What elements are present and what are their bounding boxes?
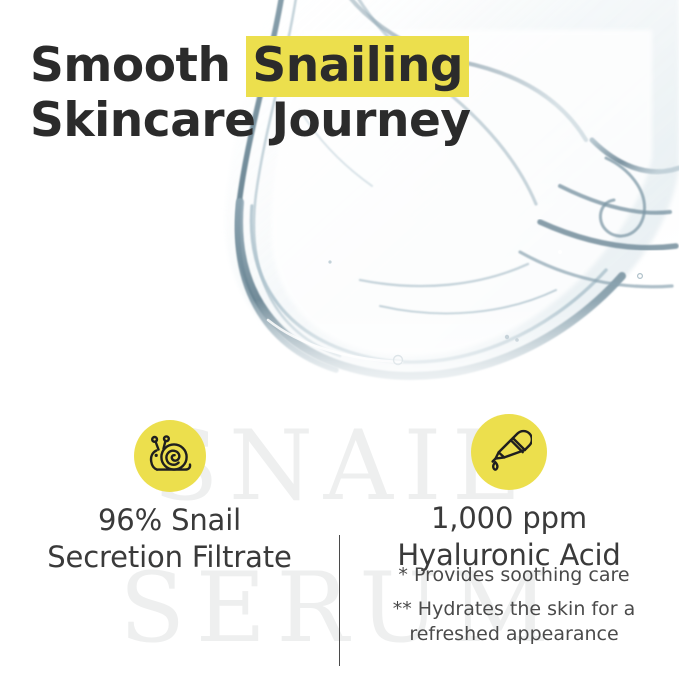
feature-hyaluronic-label-line1: 1,000 ppm: [339, 500, 679, 537]
feature-snail-label-line2: Secretion Filtrate: [0, 539, 339, 576]
footnote-2-line2: refreshed appearance: [355, 622, 673, 647]
snail-badge: [134, 420, 206, 492]
headline-line-2: Skincare Journey: [30, 93, 650, 148]
dropper-badge: [471, 414, 547, 490]
footnote-1-line1: * Provides soothing care: [355, 563, 673, 588]
feature-hyaluronic: 1,000 ppm Hyaluronic Acid: [339, 414, 679, 574]
feature-snail: 96% Snail Secretion Filtrate: [0, 414, 339, 576]
footnote-list: * Provides soothing care ** Hydrates the…: [355, 563, 673, 647]
footnote-2-line1: ** Hydrates the skin for a: [355, 597, 673, 622]
footnote-2: ** Hydrates the skin for a refreshed app…: [355, 597, 673, 647]
headline-prefix: Smooth: [30, 38, 246, 93]
dropper-icon: [486, 428, 532, 476]
column-divider: [339, 535, 340, 666]
footnote-1: * Provides soothing care: [355, 563, 673, 588]
headline-line-1: Smooth Snailing: [30, 38, 650, 93]
snail-icon: [145, 433, 195, 479]
feature-snail-label-line1: 96% Snail: [0, 502, 339, 539]
headline-highlight: Snailing: [246, 36, 469, 97]
headline: Smooth Snailing Skincare Journey: [30, 38, 650, 148]
product-infographic-poster: SNAIL SERUM Smooth Snailing Skincare Jou…: [0, 0, 679, 679]
feature-snail-label: 96% Snail Secretion Filtrate: [0, 502, 339, 576]
